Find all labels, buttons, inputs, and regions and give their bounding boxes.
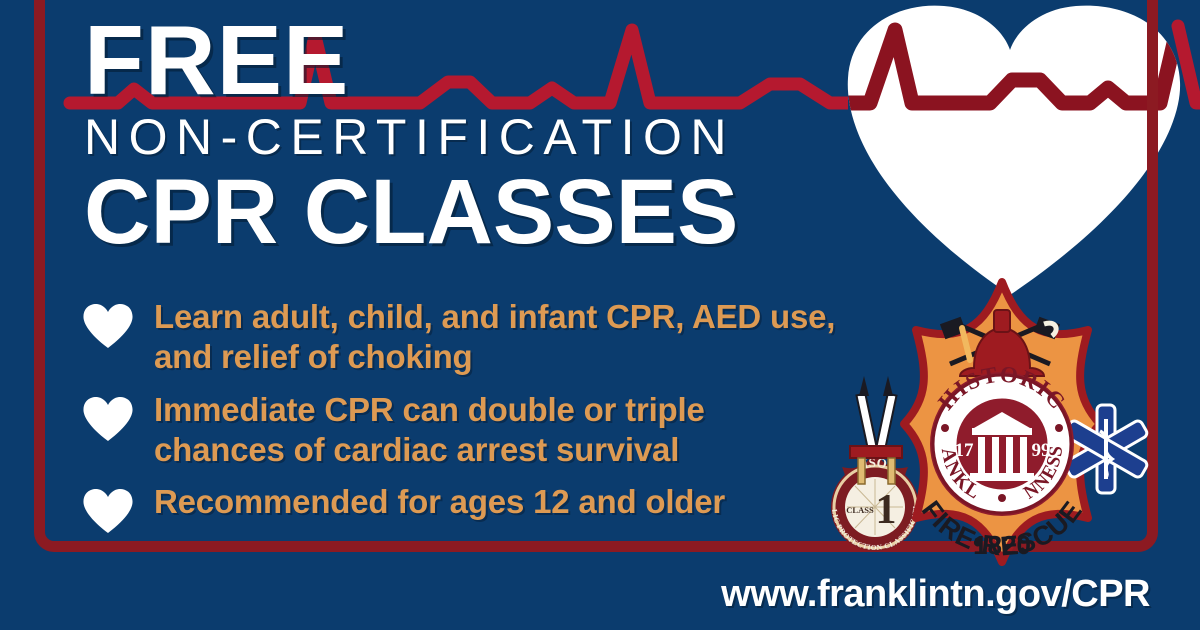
heart-icon (82, 303, 134, 349)
heart-icon (82, 488, 134, 534)
ladder-pike-poles-icon (850, 376, 902, 484)
headline-block: FREE NON-CERTIFICATION CPR CLASSES (84, 12, 904, 258)
list-item-label: Learn adult, child, and infant CPR, AED … (154, 297, 842, 378)
headline-non-certification: NON-CERTIFICATION (84, 110, 904, 164)
list-item: Recommended for ages 12 and older (82, 482, 842, 534)
list-item-label: Immediate CPR can double or triple chanc… (154, 390, 842, 471)
franklin-fire-rescue-badge: HISTORIC FRANKLIN TENNESSEE 17 (812, 276, 1182, 566)
historic-franklin-seal: HISTORIC FRANKLIN TENNESSEE 17 (812, 276, 1074, 516)
website-url[interactable]: www.franklintn.gov/CPR (721, 573, 1150, 616)
heart-icon (82, 396, 134, 442)
seal-year-right: 99 (1032, 440, 1051, 461)
cpr-class-promo-poster: FREE NON-CERTIFICATION CPR CLASSES Learn… (0, 0, 1200, 630)
headline-cpr-classes: CPR CLASSES (84, 166, 904, 258)
ekg-line-right (1178, 26, 1200, 103)
headline-free: FREE (84, 12, 904, 108)
list-item: Learn adult, child, and infant CPR, AED … (82, 297, 842, 378)
list-item: Immediate CPR can double or triple chanc… (82, 390, 842, 471)
list-item-label: Recommended for ages 12 and older (154, 482, 725, 522)
benefits-list: Learn adult, child, and infant CPR, AED … (82, 297, 842, 546)
badge-bottom-year: 1820 (973, 530, 1031, 560)
seal-year-left: 17 (955, 440, 975, 461)
